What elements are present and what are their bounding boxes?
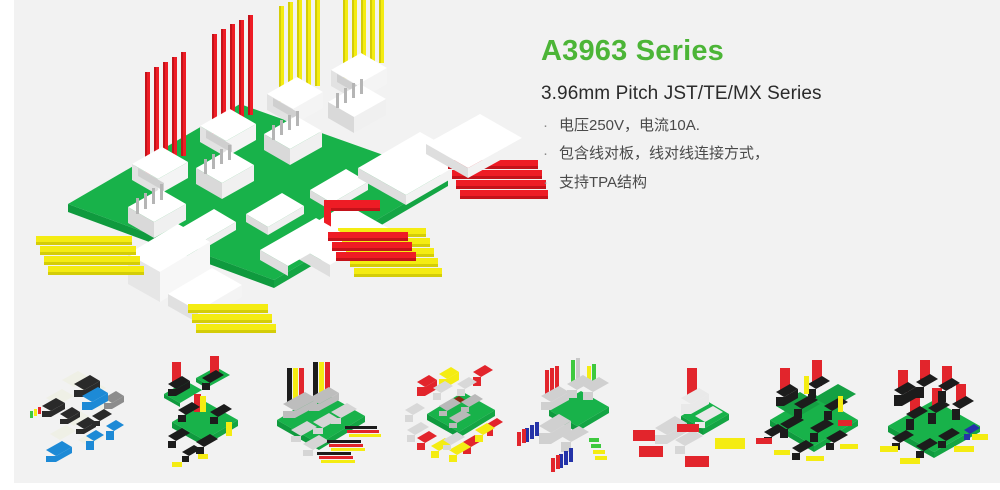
wire-bundle-red-1 xyxy=(132,52,188,195)
hero-illustration xyxy=(28,0,548,342)
thumb-pcb-tall-red-black-stacks[interactable] xyxy=(876,354,994,479)
thumb-connector-housings-grey-blue[interactable] xyxy=(20,354,138,479)
feature-text: 电压250V，电流10A. xyxy=(559,115,971,137)
feature-text: 包含线对板，线对线连接方式， xyxy=(559,143,971,165)
left-edge-strip xyxy=(0,0,14,490)
product-banner: A3963 Series 3.96mm Pitch JST/TE/MX Seri… xyxy=(0,0,1000,490)
wire-bundle-red-2 xyxy=(200,15,256,157)
thumb-multi-wire-bundles-blue-red[interactable] xyxy=(509,354,627,479)
thumb-pcb-yellow-red-connectors[interactable] xyxy=(387,354,505,479)
bullet-icon: · xyxy=(541,143,559,165)
page-title: A3963 Series xyxy=(541,34,971,69)
thumb-red-harness-small-pcb[interactable] xyxy=(631,354,749,479)
thumb-pcb-wire-to-board-harness[interactable] xyxy=(265,354,383,479)
feature-text: 支持TPA结构 xyxy=(559,172,971,194)
wire-bundle-yellow-1 xyxy=(267,0,323,125)
list-item: · 电压250V，电流10A. xyxy=(541,115,971,137)
thumb-pcb-vertical-red-headers[interactable] xyxy=(754,354,872,479)
thumb-pcb-red-black-modules[interactable] xyxy=(142,354,260,479)
product-subtitle: 3.96mm Pitch JST/TE/MX Series xyxy=(541,82,971,106)
feature-list: · 电压250V，电流10A. · 包含线对板，线对线连接方式， · 支持TPA… xyxy=(541,115,971,194)
thumbnail-strip xyxy=(14,350,1000,483)
bullet-icon: · xyxy=(541,115,559,137)
product-text-block: A3963 Series 3.96mm Pitch JST/TE/MX Seri… xyxy=(541,34,971,201)
bottom-edge-strip xyxy=(0,483,1000,490)
list-item: · 包含线对板，线对线连接方式， xyxy=(541,143,971,165)
bullet-icon: · xyxy=(541,172,559,194)
list-item: · 支持TPA结构 xyxy=(541,172,971,194)
